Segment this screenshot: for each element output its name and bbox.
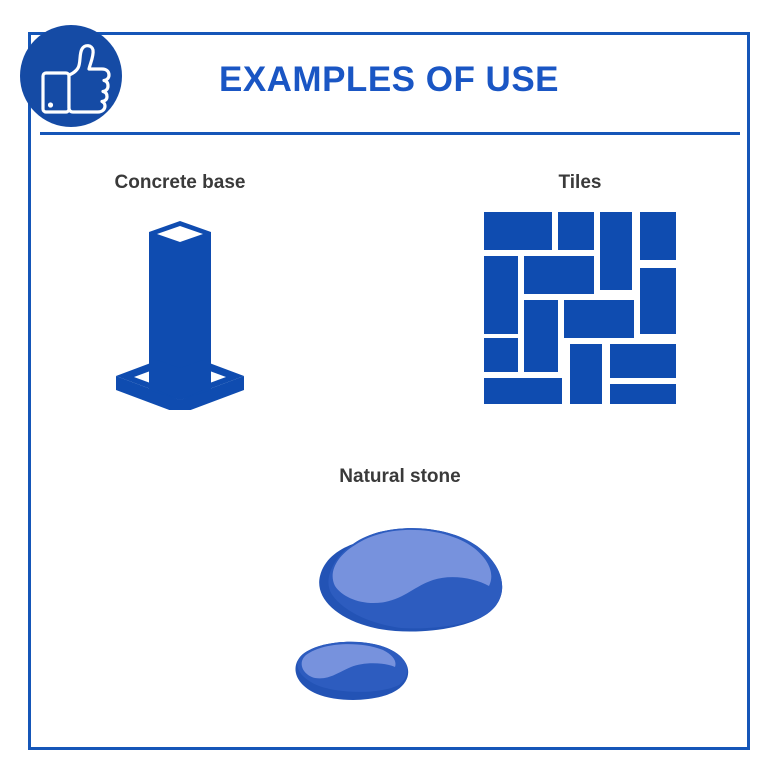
stone-small [295, 642, 408, 700]
panel-label-natural-stone: Natural stone [275, 466, 525, 488]
stone-large [319, 528, 502, 631]
illustration-tiles [460, 210, 700, 406]
panel-label-concrete-base: Concrete base [60, 172, 300, 194]
illustration-concrete-base [60, 210, 300, 410]
illustration-natural-stone [275, 504, 525, 744]
thumbs-up-icon [19, 24, 123, 128]
panel-label-tiles: Tiles [460, 172, 700, 194]
header: EXAMPLES OF USE [28, 50, 750, 138]
title-divider [40, 132, 740, 135]
page-title: EXAMPLES OF USE [28, 60, 750, 100]
